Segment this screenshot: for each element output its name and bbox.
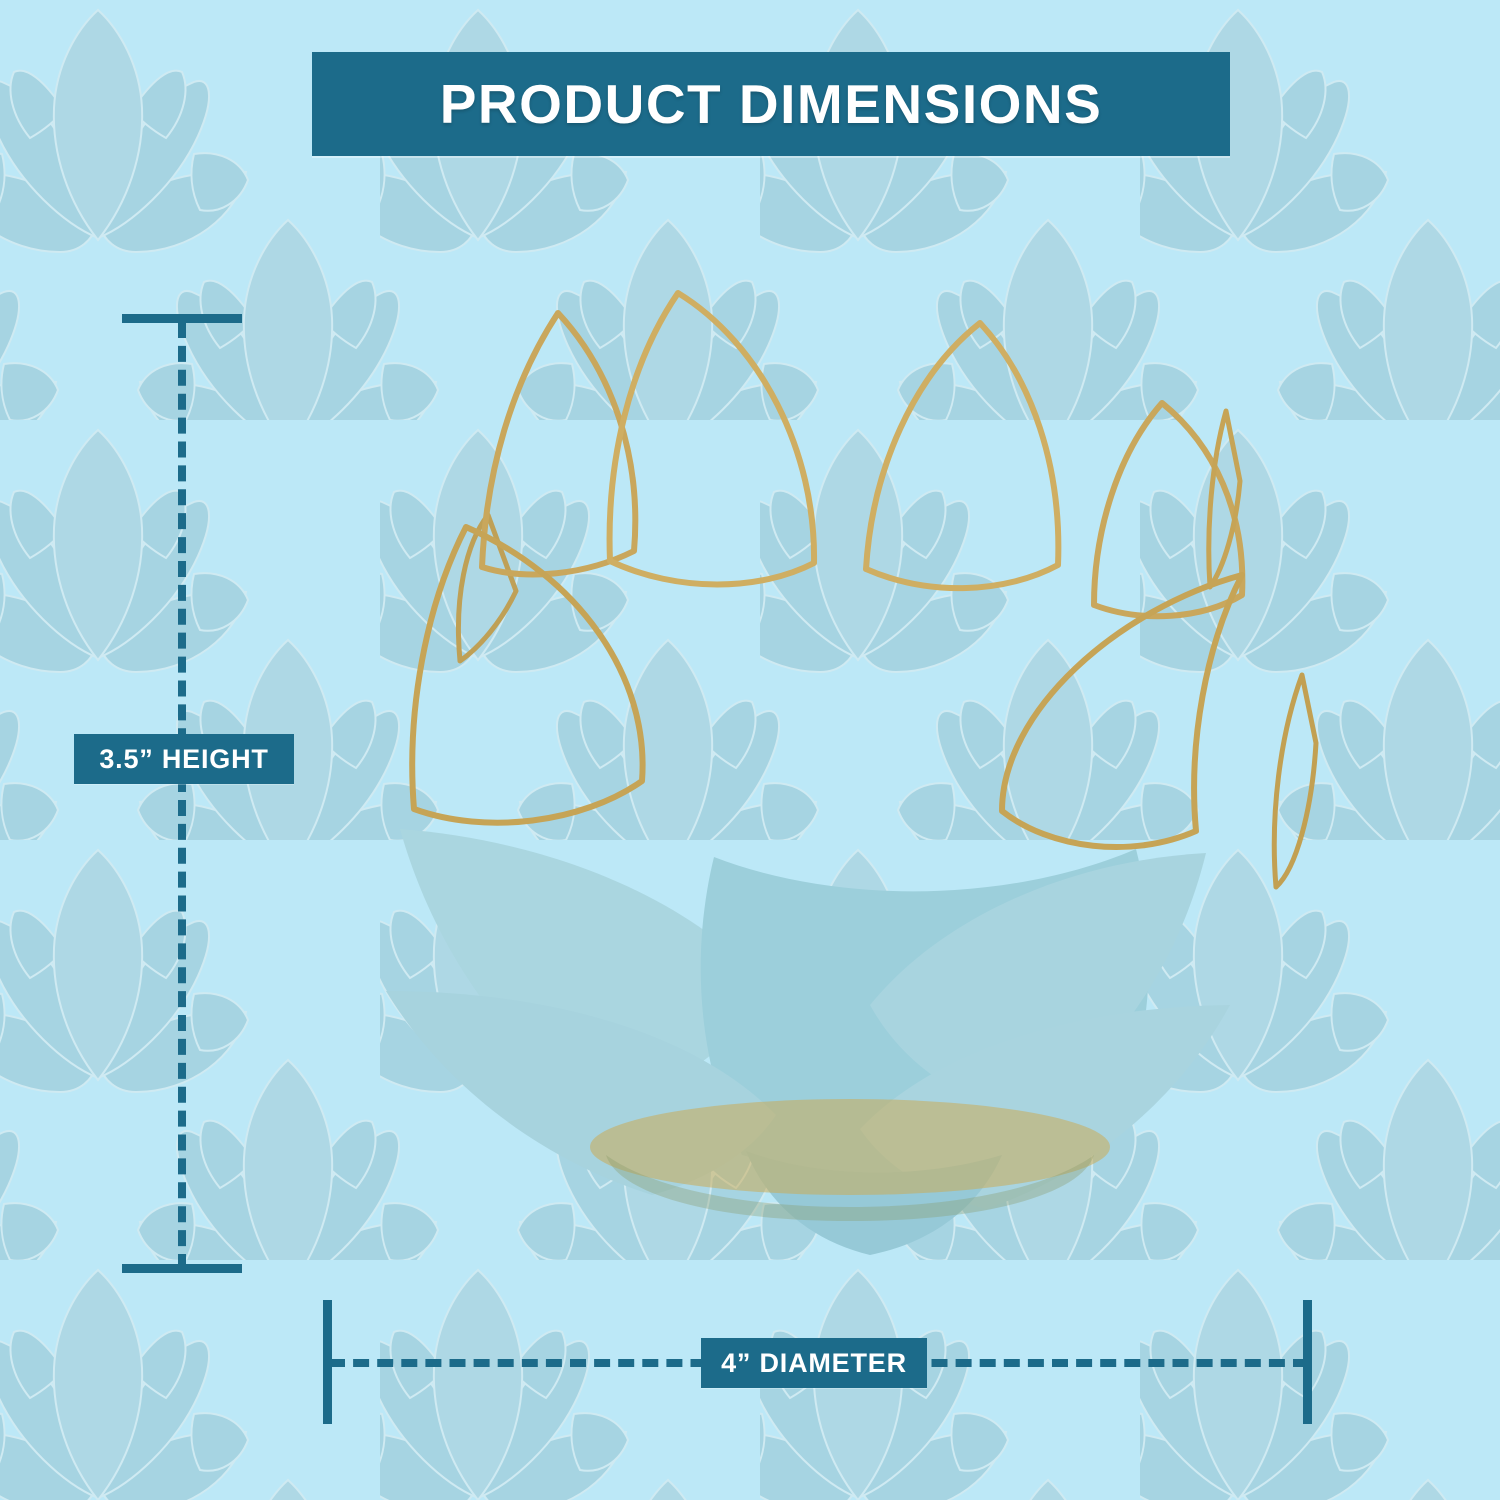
product-image-lotus-tealight-holder xyxy=(290,275,1330,1295)
infographic-canvas: PRODUCT DIMENSIONS 3.5” HEIGHT 4” DIAMET… xyxy=(0,0,1500,1500)
diameter-dimension-cap-right xyxy=(1303,1300,1312,1424)
header-banner: PRODUCT DIMENSIONS xyxy=(312,52,1230,156)
diameter-dimension-badge: 4” DIAMETER xyxy=(701,1338,927,1388)
page-title: PRODUCT DIMENSIONS xyxy=(440,77,1103,132)
height-dimension-badge: 3.5” HEIGHT xyxy=(74,734,294,784)
height-dimension-line xyxy=(178,322,186,1270)
height-dimension-cap-bottom xyxy=(122,1264,242,1273)
